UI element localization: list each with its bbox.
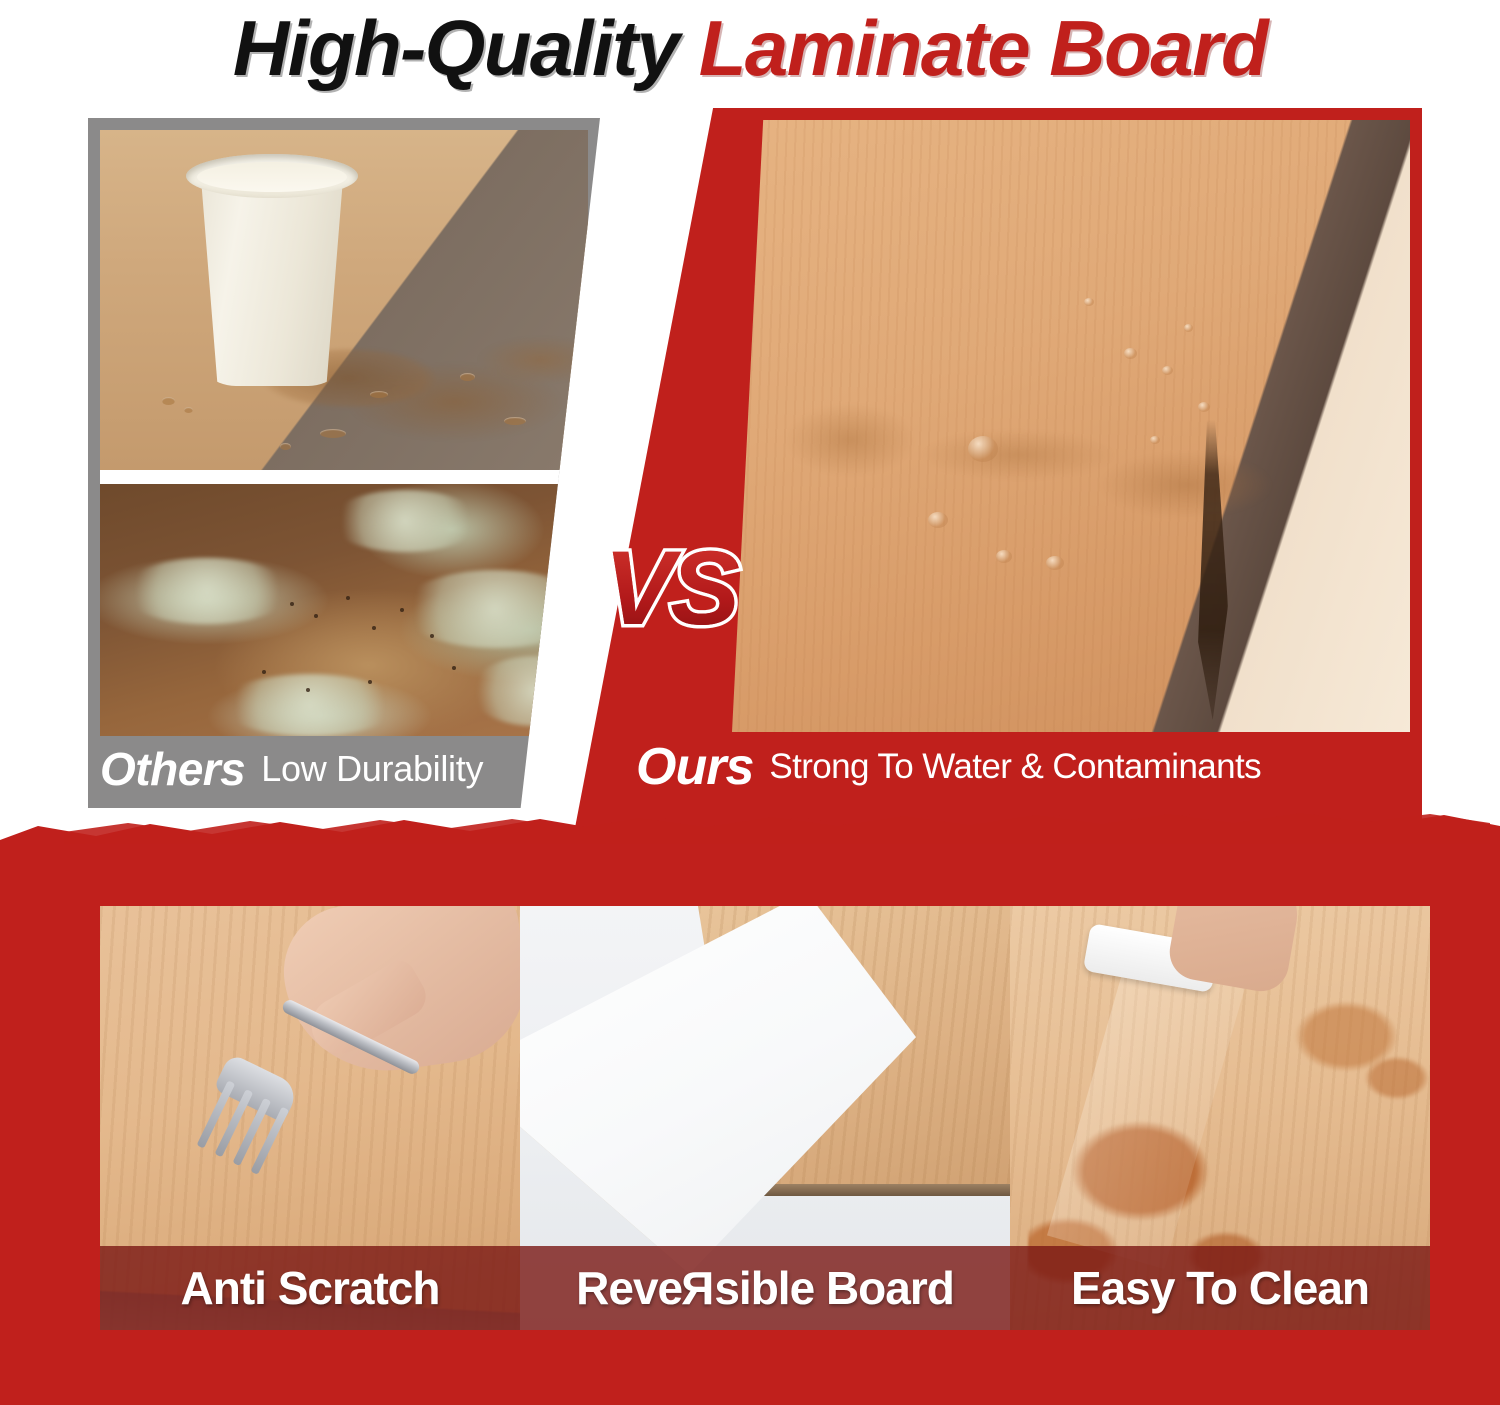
feature-row: Anti Scratch ReveRsible Board [0, 906, 1500, 1330]
ours-title: Ours [636, 737, 753, 797]
headline-part-one: High-Quality [233, 4, 679, 92]
torn-paint-edge [0, 810, 1500, 870]
comparison-section: Others Low Durability Ours [0, 108, 1500, 833]
others-subtitle: Low Durability [261, 748, 483, 790]
vs-badge: VS [604, 536, 736, 641]
ours-subtitle: Strong To Water & Contaminants [769, 747, 1261, 787]
ours-panel: Ours Strong To Water & Contaminants [574, 108, 1422, 833]
feature-label-text: ReveRsible Board [576, 1261, 954, 1315]
page-headline: High-Quality Laminate Board [0, 2, 1500, 94]
water-droplets [732, 120, 1410, 732]
feature-reversible-board: ReveRsible Board [520, 906, 1010, 1330]
reversed-r-glyph: R [682, 1261, 714, 1315]
feature-label-text: Easy To Clean [1071, 1261, 1369, 1315]
others-panel: Others Low Durability [88, 118, 600, 808]
others-label: Others Low Durability [100, 740, 600, 798]
paper-cup-body [192, 166, 352, 386]
cleaning-cloth [1083, 923, 1219, 993]
mold-damage-photo [100, 484, 588, 736]
label-suffix: sible Board [714, 1262, 954, 1314]
others-panel-inner: Others Low Durability [88, 118, 600, 808]
paper-cup-spill-photo [100, 130, 588, 470]
label-prefix: Reve [576, 1262, 682, 1314]
feature-label-text: Anti Scratch [181, 1261, 440, 1315]
white-side-panel [520, 906, 916, 1274]
feature-label-easy-to-clean: Easy To Clean [1010, 1246, 1430, 1330]
others-title: Others [100, 742, 245, 796]
photo-divider [100, 470, 588, 484]
sauce-stain-small [1260, 966, 1430, 1126]
feature-label-anti-scratch: Anti Scratch [100, 1246, 520, 1330]
feature-easy-to-clean: Easy To Clean [1010, 906, 1430, 1330]
headline-part-two: Laminate Board [699, 4, 1267, 92]
mold-specks [100, 484, 588, 736]
feature-anti-scratch: Anti Scratch [100, 906, 520, 1330]
feature-label-reversible-board: ReveRsible Board [520, 1246, 1010, 1330]
features-section: Anti Scratch ReveRsible Board [0, 846, 1500, 1405]
ours-label: Ours Strong To Water & Contaminants [636, 736, 1416, 798]
paper-cup-rim [186, 154, 358, 198]
water-beading-board-photo [732, 120, 1410, 732]
